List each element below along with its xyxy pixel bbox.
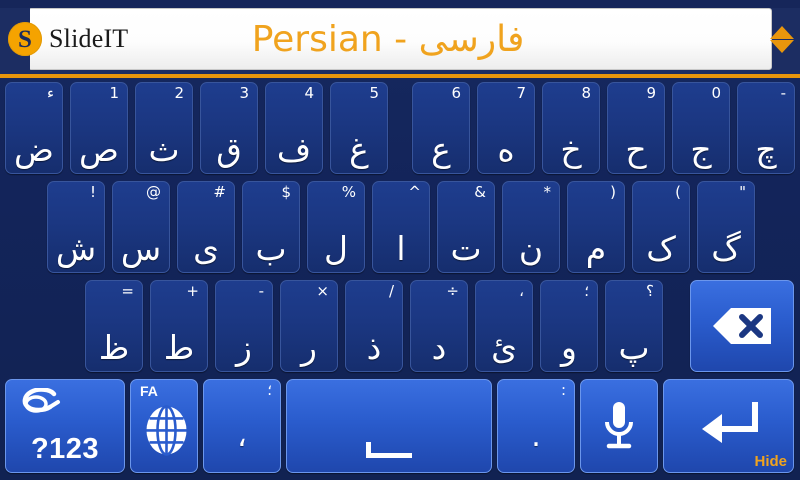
key-row-bottom: ?123 FA — [0, 379, 800, 477]
key-main-label: پ — [606, 329, 662, 367]
key-alt-label: $ — [281, 183, 291, 201]
key-alt-label: : — [561, 381, 566, 399]
key-alt-label: 6 — [451, 84, 461, 102]
slideit-logo[interactable]: S SlideIT — [2, 8, 128, 70]
key-zal[interactable]: /ذ — [345, 280, 403, 372]
key-za[interactable]: =ظ — [85, 280, 143, 372]
key-the[interactable]: 2ث — [135, 82, 193, 174]
slideit-keyboard-app: فارسی - Persian S SlideIT ءض 1ص 2ث 3ق 4ف… — [0, 0, 800, 480]
key-main-label: ش — [48, 230, 104, 268]
keyboard-area: ءض 1ص 2ث 3ق 4ف 5غ 6ع 7ه 8خ 9ح 0ج -چ !ش @… — [0, 80, 800, 480]
key-be[interactable]: $ب — [242, 181, 300, 273]
key-alt-label: & — [474, 183, 486, 201]
key-main-label: ص — [71, 131, 127, 169]
comma-key[interactable]: ؛ ، — [203, 379, 281, 473]
key-alt-label: 0 — [711, 84, 721, 102]
key-alt-label: - — [781, 84, 786, 102]
key-hhe[interactable]: 9ح — [607, 82, 665, 174]
key-alt-label: + — [186, 282, 199, 300]
backspace-icon — [691, 306, 793, 346]
key-main-label: ک — [633, 230, 689, 268]
microphone-key[interactable] — [580, 379, 658, 473]
key-main-label: ظ — [86, 329, 142, 367]
key-vav[interactable]: ؛و — [540, 280, 598, 372]
language-key-label: FA — [140, 383, 158, 399]
key-alt-label: ء — [47, 84, 54, 102]
key-fe[interactable]: 4ف — [265, 82, 323, 174]
key-alt-label: ) — [610, 183, 616, 201]
key-main-label: س — [113, 230, 169, 268]
key-alt-label: 9 — [646, 84, 656, 102]
key-alt-label: × — [316, 282, 329, 300]
key-main-label: ع — [413, 131, 469, 169]
key-dal[interactable]: ÷د — [410, 280, 468, 372]
key-alt-label: 3 — [239, 84, 249, 102]
key-main-label: ق — [201, 131, 257, 169]
key-ze[interactable]: -ز — [215, 280, 273, 372]
key-alt-label: ^ — [408, 183, 421, 201]
key-main-label: چ — [738, 131, 794, 169]
key-row-3: =ظ +ط -ز ×ر /ذ ÷د ،ئ ؛و ؟پ — [0, 280, 800, 376]
key-main-label: ز — [216, 329, 272, 367]
key-main-label: ط — [151, 329, 207, 367]
suggestion-scroll-arrows[interactable] — [768, 8, 796, 70]
key-alt-label: 4 — [304, 84, 314, 102]
key-ghain[interactable]: 5غ — [330, 82, 388, 174]
key-alef[interactable]: ^ا — [372, 181, 430, 273]
key-main-label: ف — [266, 131, 322, 169]
key-alt-label: / — [389, 282, 394, 300]
key-ye[interactable]: #ی — [177, 181, 235, 273]
key-main-label: غ — [331, 131, 387, 169]
key-alt-label: ؛ — [267, 381, 272, 399]
symbols-key-label: ?123 — [6, 433, 124, 466]
symbols-key[interactable]: ?123 — [5, 379, 125, 473]
key-main-label: ح — [608, 131, 664, 169]
key-alt-label: ! — [90, 183, 96, 201]
key-main-label: ض — [6, 131, 62, 169]
key-alt-label: ( — [675, 183, 681, 201]
space-icon — [366, 442, 412, 458]
key-main-label: ر — [281, 329, 337, 367]
key-main-label: ی — [178, 230, 234, 268]
title-bar: فارسی - Persian S SlideIT — [0, 0, 800, 78]
key-main-label: ب — [243, 230, 299, 268]
key-ta[interactable]: +ط — [150, 280, 208, 372]
key-alt-label: 5 — [369, 84, 379, 102]
key-alt-label: - — [259, 282, 264, 300]
hide-label: Hide — [754, 453, 787, 470]
slideit-wordmark: SlideIT — [49, 24, 128, 54]
globe-icon — [142, 402, 192, 458]
key-main-label: ا — [373, 230, 429, 268]
key-main-label: ئ — [476, 329, 532, 367]
key-ain[interactable]: 6ع — [412, 82, 470, 174]
key-alt-label: ؛ — [584, 282, 589, 300]
key-main-label: گ — [698, 230, 754, 268]
key-he[interactable]: 7ه — [477, 82, 535, 174]
microphone-icon — [599, 398, 639, 454]
key-main-label: ن — [503, 230, 559, 268]
slideit-swirl-icon — [20, 388, 62, 418]
key-row-2: !ش @س #ی $ب %ل ^ا &ت *ن )م (ک "گ — [0, 181, 800, 277]
key-re[interactable]: ×ر — [280, 280, 338, 372]
chevron-up-icon[interactable] — [770, 26, 794, 39]
key-jim[interactable]: 0ج — [672, 82, 730, 174]
language-key[interactable]: FA — [130, 379, 198, 473]
key-main-label: و — [541, 329, 597, 367]
key-alt-label: = — [121, 282, 134, 300]
key-che[interactable]: -چ — [737, 82, 795, 174]
key-lam[interactable]: %ل — [307, 181, 365, 273]
key-main-label: د — [411, 329, 467, 367]
key-main-label: ذ — [346, 329, 402, 367]
key-main-label: خ — [543, 131, 599, 169]
titlebar-top-strip — [0, 0, 800, 8]
key-main-label: ه — [478, 131, 534, 169]
key-hamza-ye[interactable]: ،ئ — [475, 280, 533, 372]
key-alt-label: 1 — [109, 84, 119, 102]
space-key[interactable] — [286, 379, 492, 473]
backspace-key[interactable] — [690, 280, 794, 372]
key-sad[interactable]: 1ص — [70, 82, 128, 174]
key-main-label: . — [498, 418, 574, 456]
slideit-badge-icon: S — [8, 22, 42, 56]
key-alt-label: # — [213, 183, 226, 201]
key-alt-label: @ — [146, 183, 161, 201]
key-mim[interactable]: )م — [567, 181, 625, 273]
key-khe[interactable]: 8خ — [542, 82, 600, 174]
key-te[interactable]: &ت — [437, 181, 495, 273]
key-alt-label: ÷ — [446, 282, 459, 300]
key-sin[interactable]: @س — [112, 181, 170, 273]
key-row-1: ءض 1ص 2ث 3ق 4ف 5غ 6ع 7ه 8خ 9ح 0ج -چ — [0, 82, 800, 178]
keyboard-layout-title: فارسی - Persian — [28, 8, 772, 70]
key-pe[interactable]: ؟پ — [605, 280, 663, 372]
key-gaf[interactable]: "گ — [697, 181, 755, 273]
key-alt-label: 2 — [174, 84, 184, 102]
key-alt-label: " — [739, 183, 746, 201]
key-main-label: ث — [136, 131, 192, 169]
key-alt-label: * — [544, 183, 552, 201]
key-main-label: ت — [438, 230, 494, 268]
key-main-label: ل — [308, 230, 364, 268]
chevron-down-icon[interactable] — [770, 40, 794, 53]
enter-icon — [696, 396, 762, 448]
key-alt-label: 8 — [581, 84, 591, 102]
key-shin[interactable]: !ش — [47, 181, 105, 273]
key-alt-label: % — [342, 183, 356, 201]
key-main-label: ج — [673, 131, 729, 169]
key-qaf[interactable]: 3ق — [200, 82, 258, 174]
key-nun[interactable]: *ن — [502, 181, 560, 273]
key-alt-label: 7 — [516, 84, 526, 102]
key-kaf[interactable]: (ک — [632, 181, 690, 273]
period-key[interactable]: : . — [497, 379, 575, 473]
key-alt-label: ، — [519, 282, 524, 300]
enter-key[interactable]: Hide — [663, 379, 794, 473]
key-dad[interactable]: ءض — [5, 82, 63, 174]
key-main-label: م — [568, 230, 624, 268]
key-main-label: ، — [204, 418, 280, 456]
key-alt-label: ؟ — [646, 282, 654, 300]
